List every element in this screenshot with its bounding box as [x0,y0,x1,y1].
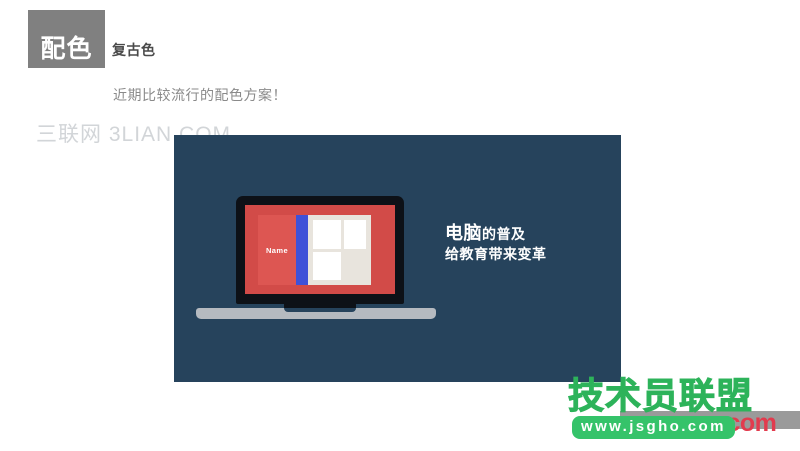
slide-canvas: Name 电脑的普及 给教育带来变革 [174,135,621,382]
laptop-screen: Name [245,205,395,294]
screen-tile [313,252,341,280]
slide-headline-rest: 的普及 [482,226,526,242]
screen-content-panel [308,215,371,285]
laptop-bezel: Name [236,196,404,304]
screen-tile [344,220,366,249]
screen-left-panel: Name [258,215,296,285]
laptop-illustration: Name [196,196,436,317]
slide-headline-line-1: 电脑的普及 [445,223,615,244]
category-badge-label: 配色 [40,37,92,68]
brand-watermark: .com 技术员联盟 www.jsgho.com [565,378,800,451]
screen-name-label: Name [266,246,288,255]
slide-headline: 电脑的普及 给教育带来变革 [445,223,615,265]
header-description: 近期比较流行的配色方案！ [113,85,287,105]
laptop-base-notch [284,308,356,312]
slide-headline-line-2: 给教育带来变革 [445,244,615,264]
header-block: 配色 复古色 近期比较流行的配色方案！ 三联网 3LIAN.COM [0,0,800,150]
brand-url-text: www.jsgho.com [581,418,726,435]
brand-url-pill: www.jsgho.com [572,416,735,439]
slide-headline-emphasis: 电脑 [445,223,482,243]
brand-title: 技术员联盟 [568,378,753,414]
screen-accent-bar [296,215,308,285]
screen-tile [313,220,341,249]
header-subtitle: 复古色 [112,40,156,60]
category-badge: 配色 [28,10,105,68]
